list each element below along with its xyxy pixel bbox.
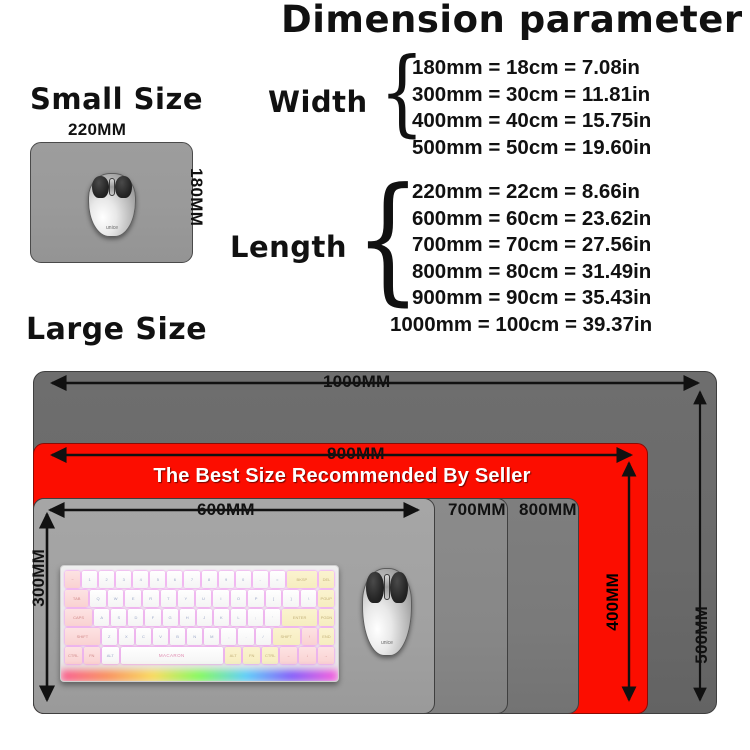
- key: 7: [184, 571, 199, 588]
- key: 1: [82, 571, 97, 588]
- key: BKSP: [287, 571, 317, 588]
- large-size-heading: Large Size: [26, 312, 207, 347]
- keyboard-row-5: CTRL FN ALT MACARON ALT FN CTRL ← ↓ →: [65, 647, 334, 664]
- keyboard-row-2: TAB Q W E R T Y U I O P [ ] \ PGUP: [65, 590, 334, 607]
- key: PGUP: [318, 590, 334, 607]
- key-spacebar: MACARON: [121, 647, 223, 664]
- length-conversion-row: 220mm = 22cm = 8.66in: [412, 179, 652, 206]
- keyboard-rows: ~ 1 2 3 4 5 6 7 8 9 0 - = BKSP DEL TAB Q…: [65, 571, 334, 676]
- width-group-label: Width: [268, 85, 368, 119]
- key: T: [161, 590, 177, 607]
- keyboard-row-3: CAPS A S D F G H J K L ; ' ENTER PGDN: [65, 609, 334, 626]
- keyboard-image: ~ 1 2 3 4 5 6 7 8 9 0 - = BKSP DEL TAB Q…: [60, 565, 339, 682]
- key: B: [170, 628, 185, 645]
- page-title: Dimension parameter: [281, 0, 743, 41]
- mouse-body: unice: [88, 173, 136, 237]
- keyboard-row-1: ~ 1 2 3 4 5 6 7 8 9 0 - = BKSP DEL: [65, 571, 334, 588]
- key: ,: [221, 628, 236, 645]
- width-conversion-row: 300mm = 30cm = 11.81in: [412, 82, 651, 109]
- key: CTRL: [262, 647, 279, 664]
- width-conversion-row: 500mm = 50cm = 19.60in: [412, 135, 651, 162]
- key: O: [231, 590, 247, 607]
- length-conversion-row: 1000mm = 100cm = 39.37in: [390, 312, 652, 339]
- key: S: [111, 609, 126, 626]
- key: I: [213, 590, 229, 607]
- key: ALT: [102, 647, 119, 664]
- mouse-logo: unice: [377, 640, 396, 647]
- mouse-icon: unice: [362, 568, 412, 656]
- key: =: [270, 571, 285, 588]
- key: ←: [280, 647, 297, 664]
- key: CTRL: [65, 647, 82, 664]
- key: K: [214, 609, 229, 626]
- label-500mm: 500MM: [692, 606, 712, 664]
- key: M: [204, 628, 219, 645]
- mouse-right-button: [115, 176, 132, 198]
- key: E: [125, 590, 141, 607]
- label-700mm: 700MM: [448, 500, 506, 520]
- label-900mm: 900MM: [327, 444, 385, 464]
- width-conversion-row: 400mm = 40cm = 15.75in: [412, 108, 651, 135]
- length-group-label: Length: [230, 230, 347, 264]
- key: ~: [65, 571, 80, 588]
- mouse-scroll-wheel: [384, 574, 390, 600]
- key: 5: [150, 571, 165, 588]
- key: Q: [90, 590, 106, 607]
- length-conversion-row: 800mm = 80cm = 31.49in: [412, 259, 652, 286]
- key: SHIFT: [65, 628, 100, 645]
- key: -: [253, 571, 268, 588]
- key: TAB: [65, 590, 88, 607]
- mouse-scroll-wheel: [109, 178, 115, 197]
- key: 4: [133, 571, 148, 588]
- key: FN: [243, 647, 260, 664]
- key: ]: [283, 590, 299, 607]
- label-300mm: 300MM: [29, 549, 49, 607]
- key: 8: [202, 571, 217, 588]
- key: A: [94, 609, 109, 626]
- key: 2: [99, 571, 114, 588]
- key: DEL: [319, 571, 334, 588]
- key: N: [187, 628, 202, 645]
- key: X: [119, 628, 134, 645]
- small-size-heading: Small Size: [30, 82, 203, 116]
- key: Z: [102, 628, 117, 645]
- key: L: [231, 609, 246, 626]
- key: ↑: [302, 628, 317, 645]
- key: D: [128, 609, 143, 626]
- key: G: [163, 609, 178, 626]
- label-800mm: 800MM: [519, 500, 577, 520]
- key: Y: [178, 590, 194, 607]
- length-conversion-row: 900mm = 90cm = 35.43in: [412, 285, 652, 312]
- key: 3: [116, 571, 131, 588]
- key: ↓: [299, 647, 316, 664]
- key: \: [301, 590, 317, 607]
- label-1000mm: 1000MM: [323, 372, 390, 392]
- mouse-icon: unice: [88, 173, 136, 237]
- key: CAPS: [65, 609, 92, 626]
- key: ENTER: [282, 609, 317, 626]
- key: ;: [248, 609, 263, 626]
- mouse-right-button: [390, 572, 407, 603]
- key: →: [318, 647, 335, 664]
- keyboard-rgb-underglow: [61, 670, 338, 682]
- key: END: [319, 628, 334, 645]
- keyboard-row-4: SHIFT Z X C V B N M , . / SHIFT ↑ END: [65, 628, 334, 645]
- length-conversion-row: 600mm = 60cm = 23.62in: [412, 206, 652, 233]
- mouse-body: unice: [362, 568, 412, 656]
- recommended-banner-text: The Best Size Recommended By Seller: [107, 465, 577, 488]
- key: P: [248, 590, 264, 607]
- key: ': [265, 609, 280, 626]
- length-brace: {: [355, 170, 421, 308]
- mouse-left-button: [92, 176, 109, 198]
- key: R: [143, 590, 159, 607]
- key: H: [180, 609, 195, 626]
- label-400mm: 400MM: [603, 573, 623, 631]
- key: C: [136, 628, 151, 645]
- key: /: [256, 628, 271, 645]
- key: F: [145, 609, 160, 626]
- mouse-logo: unice: [103, 225, 121, 230]
- key: W: [108, 590, 124, 607]
- key: [: [266, 590, 282, 607]
- mouse-left-button: [366, 572, 383, 603]
- length-conversion-list: 220mm = 22cm = 8.66in 600mm = 60cm = 23.…: [412, 179, 652, 338]
- key: U: [196, 590, 212, 607]
- key: .: [238, 628, 253, 645]
- small-pad-height-label: 180MM: [186, 168, 206, 226]
- keyboard-brand-label: MACARON: [159, 653, 185, 658]
- key: FN: [84, 647, 101, 664]
- length-conversion-row: 700mm = 70cm = 27.56in: [412, 232, 652, 259]
- key: J: [197, 609, 212, 626]
- key: PGDN: [319, 609, 334, 626]
- key: 9: [219, 571, 234, 588]
- width-conversion-row: 180mm = 18cm = 7.08in: [412, 55, 651, 82]
- key: 6: [167, 571, 182, 588]
- key: V: [153, 628, 168, 645]
- width-conversion-list: 180mm = 18cm = 7.08in 300mm = 30cm = 11.…: [412, 55, 651, 161]
- label-600mm: 600MM: [197, 500, 255, 520]
- key: ALT: [225, 647, 242, 664]
- key: SHIFT: [273, 628, 300, 645]
- small-pad-width-label: 220MM: [68, 120, 126, 140]
- key: 0: [236, 571, 251, 588]
